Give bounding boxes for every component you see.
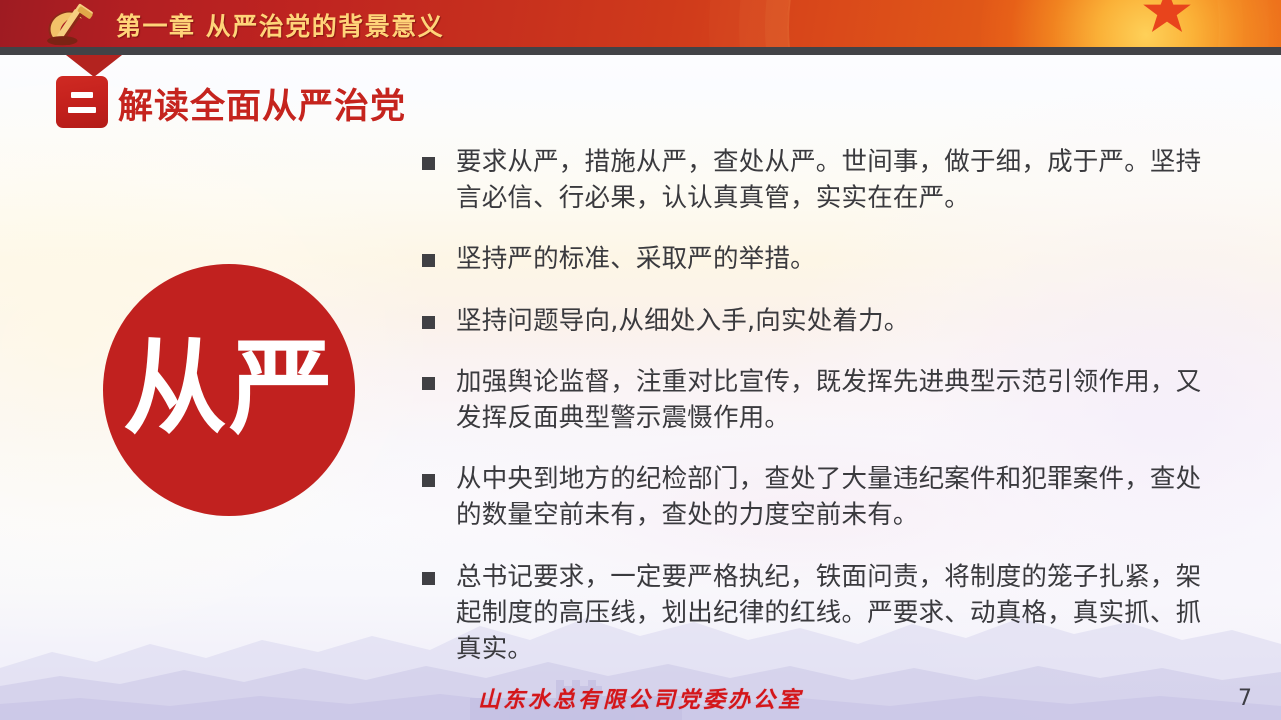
bullet-square-icon: [422, 474, 435, 487]
five-point-star-icon: [1140, 0, 1194, 38]
bullet-text: 坚持严的标准、采取严的举措。: [456, 241, 1210, 277]
bullet-list: 要求从严，措施从严，查处从严。世间事，做于细，成于严。坚持言必信、行必果，认认真…: [422, 144, 1210, 692]
chapter-title: 第一章 从严治党的背景意义: [116, 7, 444, 43]
bullet-text: 坚持问题导向,从细处入手,向实处着力。: [456, 303, 1210, 339]
page-number: 7: [1238, 686, 1252, 711]
list-item: 坚持问题导向,从细处入手,向实处着力。: [422, 303, 1210, 339]
bullet-square-icon: [422, 157, 435, 170]
hammer-sickle-icon: [38, 1, 114, 47]
list-item: 加强舆论监督，注重对比宣传，既发挥先进典型示范引领作用，又发挥反面典型警示震慑作…: [422, 364, 1210, 436]
section-number-badge: [56, 76, 108, 128]
badge-bar-top: [71, 92, 93, 98]
bullet-square-icon: [422, 572, 435, 585]
bullet-text: 从中央到地方的纪检部门，查处了大量违纪案件和犯罪案件，查处的数量空前未有，查处的…: [456, 461, 1210, 533]
section-arrow-decoration: [66, 55, 122, 77]
footer-organization: 山东水总有限公司党委办公室: [0, 682, 1281, 714]
list-item: 坚持严的标准、采取严的举措。: [422, 241, 1210, 277]
header-divider-strip: [0, 47, 1281, 55]
bullet-square-icon: [422, 377, 435, 390]
list-item: 从中央到地方的纪检部门，查处了大量违纪案件和犯罪案件，查处的数量空前未有，查处的…: [422, 461, 1210, 533]
list-item: 总书记要求，一定要严格执纪，铁面问责，将制度的笼子扎紧，架起制度的高压线，划出纪…: [422, 559, 1210, 668]
circle-emblem-label: 从严: [123, 336, 335, 440]
header-sunburst-decoration: [981, 0, 1281, 47]
bullet-square-icon: [422, 254, 435, 267]
badge-bar-bottom: [68, 107, 96, 113]
slide-header-bar: 第一章 从严治党的背景意义: [0, 0, 1281, 47]
bullet-square-icon: [422, 316, 435, 329]
list-item: 要求从严，措施从严，查处从严。世间事，做于细，成于严。坚持言必信、行必果，认认真…: [422, 144, 1210, 216]
slide-root: 第一章 从严治党的背景意义 解读全面从严治党 从严 要求从严，措施从严，查处从严…: [0, 0, 1281, 720]
section-title: 解读全面从严治党: [118, 78, 406, 129]
bullet-text: 总书记要求，一定要严格执纪，铁面问责，将制度的笼子扎紧，架起制度的高压线，划出纪…: [456, 559, 1210, 668]
congyan-circle-emblem: 从严: [103, 264, 355, 516]
bullet-text: 加强舆论监督，注重对比宣传，既发挥先进典型示范引领作用，又发挥反面典型警示震慑作…: [456, 364, 1210, 436]
bullet-text: 要求从严，措施从严，查处从严。世间事，做于细，成于严。坚持言必信、行必果，认认真…: [456, 144, 1210, 216]
